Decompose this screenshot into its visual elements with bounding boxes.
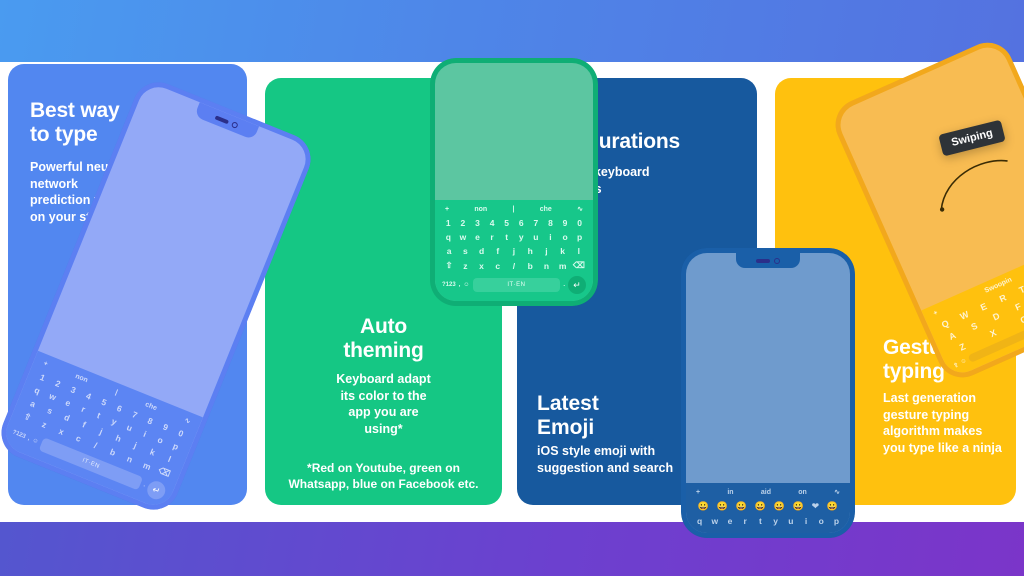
card-auto-theming-subtitle: Keyboard adaptits color to theapp you ar… [265,371,502,437]
camera-icon [774,258,780,264]
key-q[interactable]: q [441,232,456,242]
phone-notch [736,253,800,268]
keyboard-emoji-blue[interactable]: + in aid on ∿ 😀 😀 😀 😀 😀 😀 ❤ 😀 [686,483,850,533]
key-2[interactable]: 2 [456,218,471,228]
suggestion-word-1[interactable]: non [474,206,487,213]
screenshot-stage: Best wayto type Powerful neural network … [0,0,1024,576]
key-y[interactable]: y [768,516,783,526]
key-t[interactable]: t [753,516,768,526]
key-i[interactable]: i [543,232,558,242]
key-x[interactable]: x [473,261,489,271]
phone-mockup-blue-emoji[interactable]: + in aid on ∿ 😀 😀 😀 😀 😀 😀 ❤ 😀 [681,248,855,538]
keyboard-bottom-row[interactable]: ?123 , ☺ IT·EN . ↵ [439,273,589,296]
key-h[interactable]: h [522,246,538,256]
period-key[interactable]: . [563,282,565,288]
key-6[interactable]: 6 [514,218,529,228]
wave-icon[interactable]: ∿ [834,488,840,496]
camera-icon [231,121,239,129]
key-r[interactable]: r [485,232,500,242]
phone-screen: + non | che ∿ 1 2 3 4 5 6 7 8 9 0 [435,63,593,301]
enter-key[interactable]: ↵ [568,276,586,294]
suggestion-divider: | [114,389,118,396]
key-p[interactable]: p [572,232,587,242]
background-top-band [0,0,1024,62]
keyboard-row-zxcv[interactable]: ⇧ z x c / b n m ⌫ [439,258,589,273]
enter-key[interactable]: ↵ [145,479,168,502]
symbols-key[interactable]: ?123 [11,429,26,440]
key-y[interactable]: y [514,232,529,242]
comma-key[interactable]: , [459,282,461,288]
key-r[interactable]: r [738,516,753,526]
symbols-key[interactable]: ?123 [442,282,456,288]
key-1[interactable]: 1 [441,218,456,228]
emoji-icon[interactable]: ☺ [960,358,968,366]
key-q[interactable]: q [692,516,707,526]
key-8[interactable]: 8 [543,218,558,228]
suggestion-bar[interactable]: + in aid on ∿ [690,486,846,499]
suggestion-bar[interactable]: + non | che ∿ [439,203,589,216]
key-l[interactable]: l [571,246,587,256]
add-suggestion-icon[interactable]: + [445,206,449,213]
key-c[interactable]: c [490,261,506,271]
key-j[interactable]: j [538,246,554,256]
emoji-item[interactable]: 😀 [827,501,838,512]
emoji-icon[interactable]: ☺ [463,282,469,288]
key-5[interactable]: 5 [499,218,514,228]
suggestion-word-1[interactable]: in [727,489,733,496]
keyboard-italian-green[interactable]: + non | che ∿ 1 2 3 4 5 6 7 8 9 0 [435,200,593,301]
card-gesture-typing-subtitle: Last generation gesture typing algorithm… [883,390,1008,456]
key-b[interactable]: b [522,261,538,271]
keyboard-row-qwerty[interactable]: q w e r t y u i o p [690,514,846,528]
emoji-suggestion-row[interactable]: 😀 😀 😀 😀 😀 😀 ❤ 😀 [690,499,846,514]
suggestion-word-1[interactable]: non [74,372,89,383]
key-3[interactable]: 3 [470,218,485,228]
phone-screen: + in aid on ∿ 😀 😀 😀 😀 😀 😀 ❤ 😀 [686,253,850,533]
emoji-item-heart[interactable]: ❤ [812,501,820,512]
speaker-icon [215,115,229,124]
period-key[interactable]: . [142,482,146,488]
key-9[interactable]: 9 [558,218,573,228]
key-w[interactable]: w [456,232,471,242]
background-bottom-band [0,522,1024,576]
add-suggestion-icon[interactable]: + [42,360,48,368]
key-n[interactable]: n [538,261,554,271]
key-i[interactable]: i [798,516,813,526]
add-suggestion-icon[interactable]: + [932,309,939,317]
key-d[interactable]: d [473,246,489,256]
key-k[interactable]: k [555,246,571,256]
key-a[interactable]: a [441,246,457,256]
key-z[interactable]: z [457,261,473,271]
key-m[interactable]: m [555,261,571,271]
emoji-item[interactable]: 😀 [774,501,785,512]
shift-key[interactable]: ⇧ [952,361,959,369]
key-p[interactable]: p [829,516,844,526]
key-0[interactable]: 0 [572,218,587,228]
key-v[interactable]: / [506,261,522,271]
emoji-item[interactable]: 😀 [698,501,709,512]
suggestion-word-2[interactable]: aid [761,489,771,496]
key-w[interactable]: w [707,516,722,526]
card-auto-theming-title: Autotheming [265,315,502,362]
comma-key[interactable]: , [27,436,31,442]
wave-icon[interactable]: ∿ [183,416,191,426]
key-t[interactable]: t [499,232,514,242]
key-e[interactable]: e [470,232,485,242]
key-g[interactable]: j [506,246,522,256]
key-4[interactable]: 4 [485,218,500,228]
backspace-key[interactable]: ⌫ [571,260,587,271]
space-key[interactable]: IT·EN [473,278,561,292]
key-s[interactable]: s [457,246,473,256]
keyboard-number-row[interactable]: 1 2 3 4 5 6 7 8 9 0 [439,216,589,230]
speaker-icon [756,259,770,263]
key-e[interactable]: e [722,516,737,526]
key-f[interactable]: f [490,246,506,256]
emoji-icon[interactable]: ☺ [31,437,39,445]
suggestion-word-2[interactable]: che [144,401,158,412]
keyboard-row-asdf[interactable]: a s d f j h j k l [439,244,589,258]
key-u[interactable]: u [783,516,798,526]
suggestion-word-3[interactable]: on [798,489,807,496]
emoji-item[interactable]: 😀 [793,501,804,512]
card-auto-theming-note: *Red on Youtube, green on Whatsapp, blue… [279,460,488,492]
suggestion-divider: | [512,206,514,213]
keyboard-row-qwerty[interactable]: q w e r t y u i o p [439,230,589,244]
key-o[interactable]: o [814,516,829,526]
emoji-item[interactable]: 😀 [755,501,766,512]
phone-mockup-green[interactable]: + non | che ∿ 1 2 3 4 5 6 7 8 9 0 [430,58,598,306]
key-u[interactable]: u [529,232,544,242]
card-latest-emoji-title: LatestEmoji [537,392,599,439]
shift-key[interactable]: ⇧ [441,260,457,271]
emoji-item[interactable]: 😀 [736,501,747,512]
add-suggestion-icon[interactable]: + [696,489,700,496]
suggestion-word-2[interactable]: che [540,206,552,213]
wave-icon[interactable]: ∿ [577,205,583,213]
key-7[interactable]: 7 [529,218,544,228]
emoji-item[interactable]: 😀 [717,501,728,512]
key-o[interactable]: o [558,232,573,242]
